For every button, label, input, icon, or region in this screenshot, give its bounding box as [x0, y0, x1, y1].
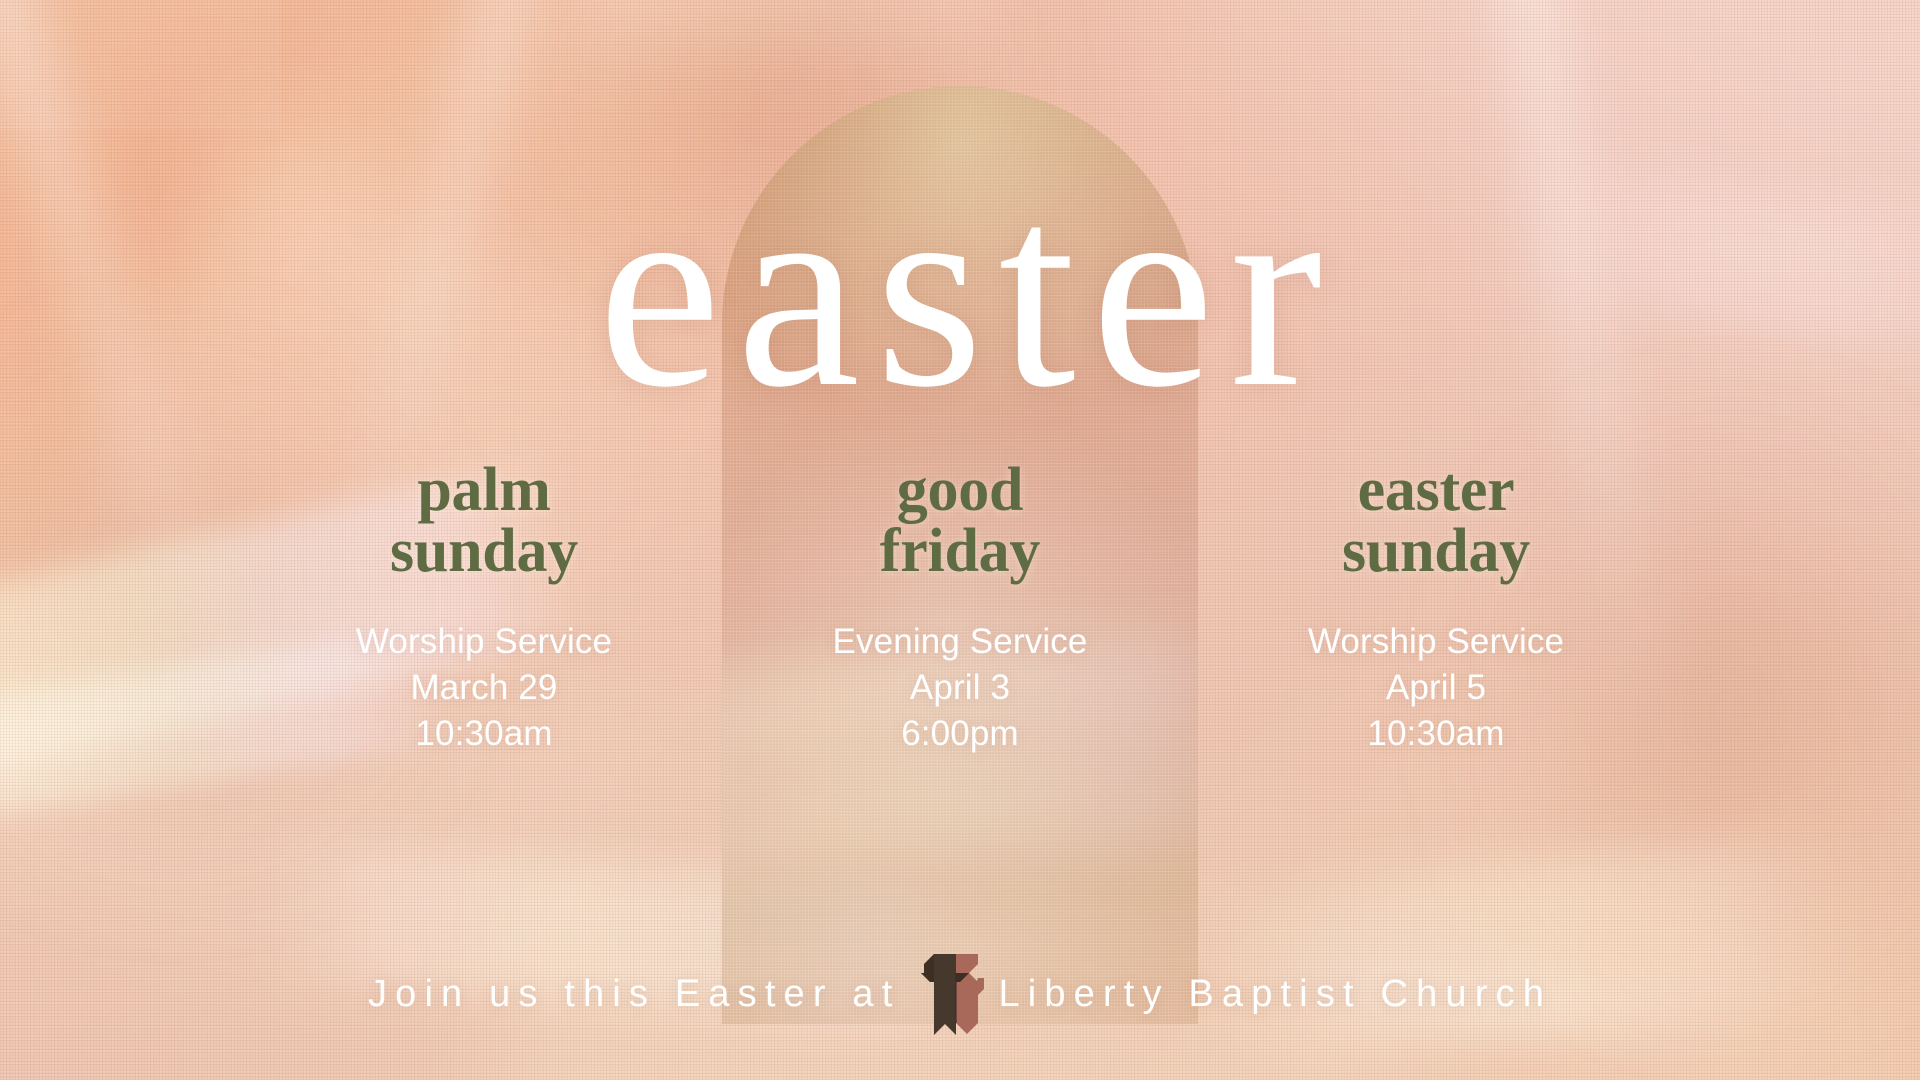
poster-content: easter palm sunday Worship Service March… — [0, 0, 1920, 1080]
service-title: palm sunday — [246, 460, 722, 583]
service-title: good friday — [722, 460, 1198, 583]
service-title: easter sunday — [1198, 460, 1674, 583]
service-column-easter-sunday: easter sunday Worship Service April 5 10… — [1198, 460, 1674, 757]
layered-cross-icon — [912, 952, 984, 1036]
service-details: Worship Service April 5 10:30am — [1198, 619, 1674, 758]
service-details: Worship Service March 29 10:30am — [246, 619, 722, 758]
service-columns: palm sunday Worship Service March 29 10:… — [0, 460, 1920, 757]
service-details: Evening Service April 3 6:00pm — [722, 619, 1198, 758]
easter-service-poster: easter palm sunday Worship Service March… — [0, 0, 1920, 1080]
tagline-church-name: Liberty Baptist Church — [984, 973, 1552, 1016]
service-column-palm-sunday: palm sunday Worship Service March 29 10:… — [246, 460, 722, 757]
service-column-good-friday: good friday Evening Service April 3 6:00… — [722, 460, 1198, 757]
invitation-tagline: Join us this Easter at — [0, 952, 1920, 1036]
page-title: easter — [0, 152, 1920, 430]
tagline-before-logo: Join us this Easter at — [368, 973, 912, 1016]
